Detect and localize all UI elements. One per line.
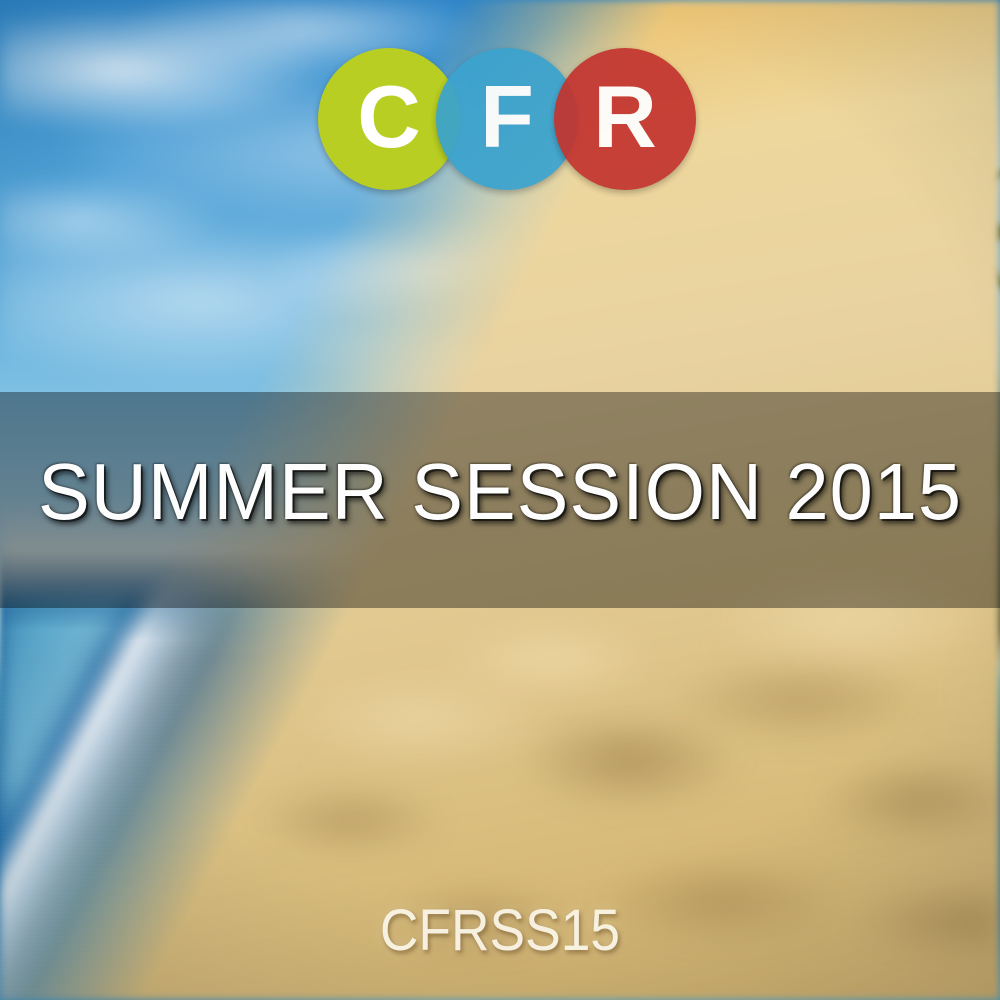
album-cover-poster: C F R SUMMER SESSION 2015 CFRSS15 [0,0,1000,1000]
poster-title: SUMMER SESSION 2015 [15,452,985,532]
poster-code: CFRSS15 [40,902,960,960]
logo-letter-r: R [593,73,657,161]
logo-letter-c: C [357,73,421,161]
logo-circle-r: R [554,48,696,190]
logo-letter-f: F [480,73,534,161]
cfr-logo: C F R [318,48,696,190]
